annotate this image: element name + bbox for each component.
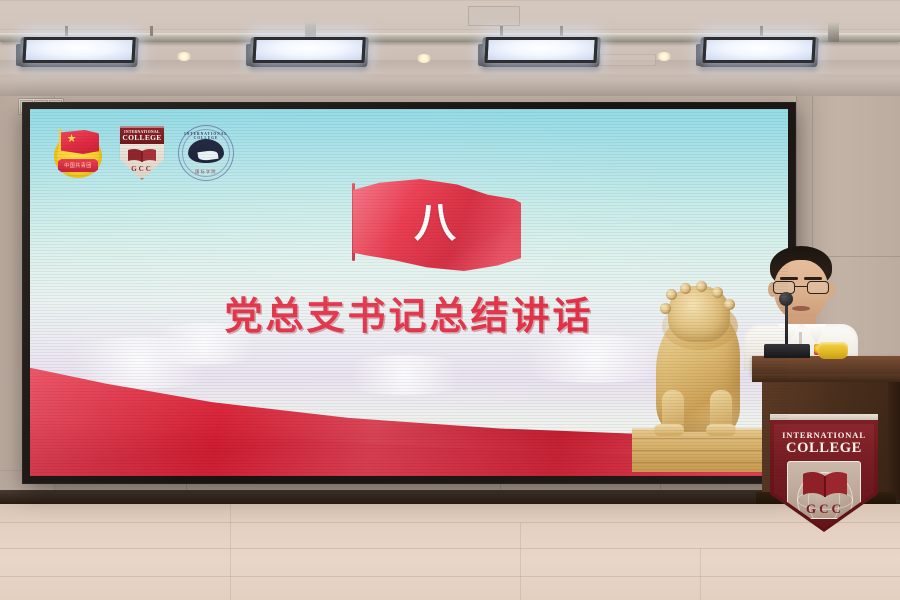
- yellow-cup[interactable]: [818, 342, 848, 359]
- open-book-icon: [801, 470, 849, 500]
- shield-line2: COLLEGE: [122, 134, 161, 142]
- stage-light-body: [481, 37, 601, 67]
- pedestal-line: [632, 438, 772, 439]
- flag-character: 八: [400, 201, 470, 245]
- floor: [0, 504, 900, 600]
- truss-hanger: [65, 26, 68, 36]
- lectern-sign-line1: INTERNATIONAL: [782, 430, 866, 440]
- emblem-banner-text: 中国共青团: [58, 159, 98, 172]
- presenter-eyebrow: [804, 277, 822, 280]
- truss-hanger: [560, 26, 563, 36]
- stage-light: [250, 38, 368, 67]
- lion-mane-curl: [696, 281, 707, 292]
- presenter-eyebrow: [780, 277, 798, 280]
- stage-light-body: [699, 37, 819, 67]
- seal-bottom-text: 国际学院: [178, 169, 234, 175]
- slide-title: 党总支书记总结讲话: [30, 294, 788, 338]
- shield-line3: GCC: [118, 165, 166, 173]
- led-video-wall[interactable]: ★ 中国共青团 INTERNATIONAL COLLEGE: [22, 102, 796, 484]
- stage-light: [482, 38, 600, 67]
- microphone-base-unit[interactable]: [764, 344, 810, 358]
- pedestal-line: [632, 450, 772, 451]
- international-college-shield-logo-icon: INTERNATIONAL COLLEGE GCC: [118, 126, 166, 180]
- lectern-desktop: [752, 356, 900, 376]
- shield-header: INTERNATIONAL COLLEGE: [120, 128, 164, 144]
- screenshot-root: ★ 中国共青团 INTERNATIONAL COLLEGE: [0, 0, 900, 600]
- open-book-svg: [127, 148, 157, 163]
- ceiling-vent: [468, 6, 520, 26]
- stage-light: [700, 38, 818, 67]
- slide-logo-row: ★ 中国共青团 INTERNATIONAL COLLEGE: [52, 125, 234, 181]
- pedestal-line: [632, 462, 772, 463]
- open-book-svg: [801, 470, 849, 500]
- glasses-lens: [807, 281, 829, 294]
- truss-hanger: [150, 26, 153, 36]
- stage-light-body: [19, 37, 139, 67]
- truss-hanger: [760, 26, 763, 36]
- stage-light-lens: [702, 37, 815, 63]
- lion-mane-curl: [680, 283, 691, 294]
- stage-light-lens: [22, 37, 135, 63]
- lectern-sign-line2: COLLEGE: [786, 440, 862, 457]
- floor-seam: [230, 504, 231, 600]
- stage-light-lens: [252, 37, 365, 63]
- presenter-mouth: [792, 306, 810, 311]
- stage-light-lens: [484, 37, 597, 63]
- red-flag-graphic: 八: [348, 175, 528, 277]
- floor-seam: [700, 548, 701, 600]
- glasses-bridge: [795, 286, 807, 287]
- ceiling-bay: [0, 0, 900, 30]
- microphone-head-icon: [779, 292, 793, 306]
- lion-pedestal: [632, 428, 772, 472]
- truss-clamp: [828, 22, 839, 42]
- lion-paw: [654, 424, 684, 436]
- floor-plank-line: [0, 576, 900, 577]
- stage-light-body: [249, 37, 369, 67]
- emblem-flagpole: [59, 128, 61, 158]
- ceiling-vent: [600, 54, 656, 66]
- truss-hanger: [500, 26, 503, 36]
- stage-light: [20, 38, 138, 67]
- open-book-icon: [127, 148, 157, 163]
- lectern-desktop-edge: [752, 374, 900, 382]
- floor-plank-line: [0, 522, 900, 523]
- downlight: [656, 52, 672, 61]
- floor-plank-line: [0, 548, 900, 549]
- floor-seam: [520, 522, 521, 600]
- cloud: [330, 355, 480, 395]
- downlight: [176, 52, 192, 61]
- emblem-star-icon: ★: [66, 134, 77, 145]
- downlight: [416, 54, 432, 63]
- led-screen-surface[interactable]: ★ 中国共青团 INTERNATIONAL COLLEGE: [30, 109, 788, 476]
- lion-paw: [706, 424, 736, 436]
- lectern-side-panel: [888, 376, 900, 500]
- international-college-seal-logo-icon: INTERNATIONAL COLLEGE 国际学院: [178, 125, 234, 181]
- lectern-sign-stripe: [770, 414, 878, 420]
- communist-youth-league-emblem-icon: ★ 中国共青团: [52, 126, 106, 180]
